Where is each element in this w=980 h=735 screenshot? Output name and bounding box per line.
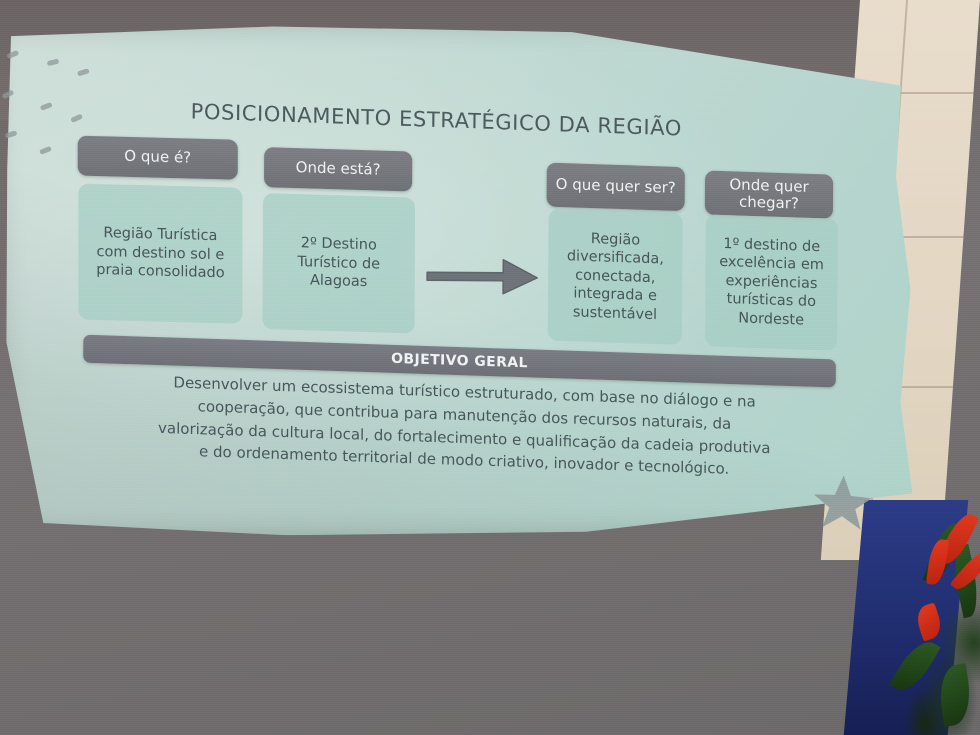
column-header-o-que-quer-ser: O que quer ser? <box>547 163 685 212</box>
column-card-o-que-quer-ser: Região diversificada, conectada, integra… <box>548 209 683 345</box>
column-header-onde-esta: Onde está? <box>264 147 412 191</box>
objective-paragraph: Desenvolver um ecossistema turístico est… <box>79 368 850 485</box>
projection-slide: POSICIONAMENTO ESTRATÉGICO DA REGIÃO O q… <box>0 24 942 535</box>
column-card-onde-quer-chegar: 1º destino de excelência em experiências… <box>705 214 838 350</box>
photo-of-projected-slide: POSICIONAMENTO ESTRATÉGICO DA REGIÃO O q… <box>0 0 980 735</box>
page-title: POSICIONAMENTO ESTRATÉGICO DA REGIÃO <box>191 99 752 143</box>
arrow-right-icon <box>423 251 543 301</box>
column-card-onde-esta: 2º Destino Turístico de Alagoas <box>262 193 415 333</box>
starfish-icon <box>810 470 874 532</box>
column-header-o-que-e: O que é? <box>78 136 238 180</box>
tropical-flower-icon <box>860 505 980 735</box>
column-header-onde-quer-chegar: Onde quer chegar? <box>705 170 833 218</box>
slide-content: POSICIONAMENTO ESTRATÉGICO DA REGIÃO O q… <box>0 24 942 535</box>
column-card-o-que-e: Região Turística com destino sol e praia… <box>78 184 242 324</box>
